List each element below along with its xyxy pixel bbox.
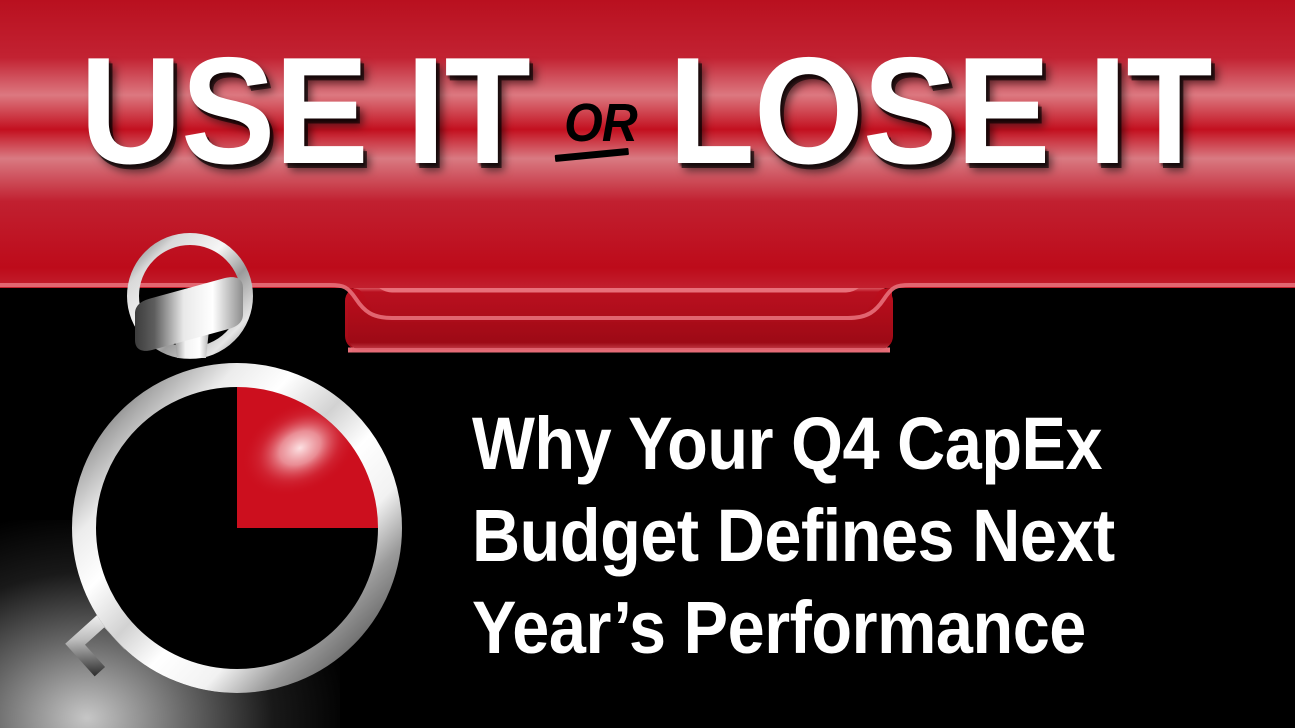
subtitle-line-2: Budget Defines Next bbox=[472, 490, 1192, 582]
thumbnail-canvas: USE IT OR LOSE IT Why Your Q4 CapEx Budg… bbox=[0, 0, 1295, 728]
subtitle-line-3: Year’s Performance bbox=[472, 582, 1192, 674]
stopwatch-illustration bbox=[0, 230, 430, 728]
subtitle: Why Your Q4 CapEx Budget Defines Next Ye… bbox=[472, 398, 1272, 674]
subtitle-line-1: Why Your Q4 CapEx bbox=[472, 398, 1192, 490]
